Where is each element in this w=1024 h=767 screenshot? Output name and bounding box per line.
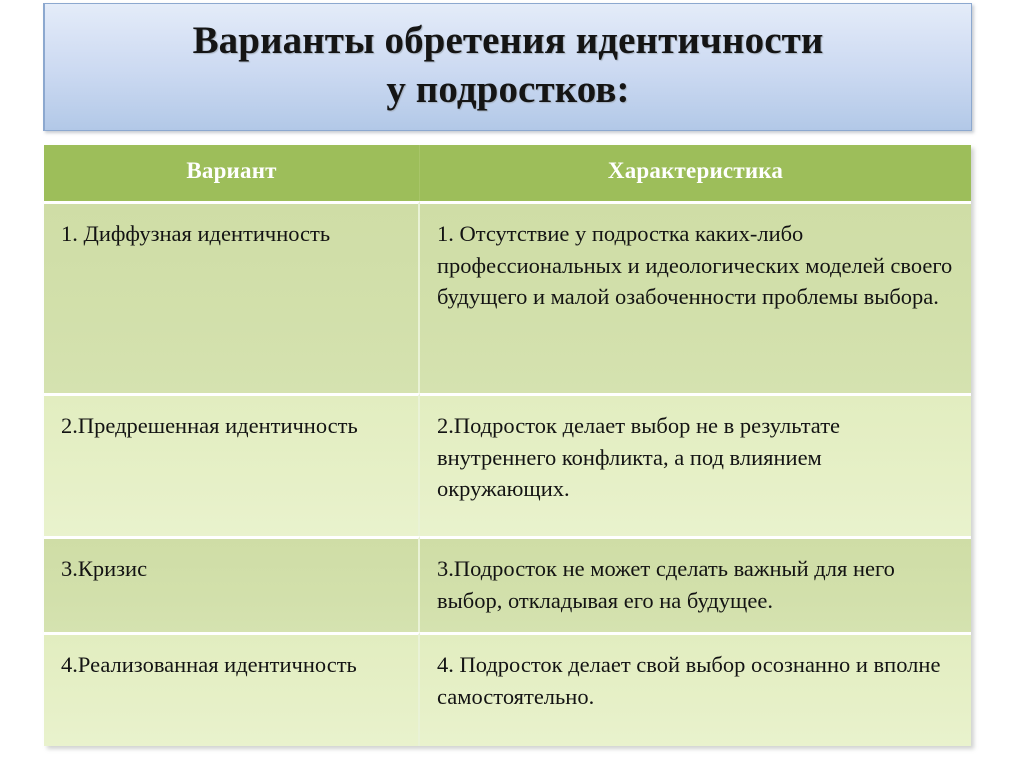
table-body: 1. Диффузная идентичность 1. Отсутствие … <box>44 201 971 746</box>
cell-variant: 3.Кризис <box>44 536 420 632</box>
table-row: 4.Реализованная идентичность 4. Подросто… <box>44 632 971 746</box>
column-header-variant: Вариант <box>44 145 420 201</box>
cell-characteristic: 2.Подросток делает выбор не в результате… <box>420 393 971 536</box>
cell-characteristic: 4. Подросток делает свой выбор осознанно… <box>420 632 971 746</box>
page-title-line-1: Варианты обретения идентичности <box>193 16 824 65</box>
cell-characteristic: 1. Отсутствие у подростка каких-либо про… <box>420 201 971 393</box>
page-title-line-2: у подростков: <box>386 65 629 114</box>
cell-variant: 4.Реализованная идентичность <box>44 632 420 746</box>
variants-table: Вариант Характеристика 1. Диффузная иден… <box>44 145 971 746</box>
table-header-row: Вариант Характеристика <box>44 145 971 201</box>
cell-variant: 2.Предрешенная идентичность <box>44 393 420 536</box>
cell-characteristic: 3.Подросток не может сделать важный для … <box>420 536 971 632</box>
table-row: 1. Диффузная идентичность 1. Отсутствие … <box>44 201 971 393</box>
table-row: 3.Кризис 3.Подросток не может сделать ва… <box>44 536 971 632</box>
cell-variant: 1. Диффузная идентичность <box>44 201 420 393</box>
table-row: 2.Предрешенная идентичность 2.Подросток … <box>44 393 971 536</box>
variants-table-container: Вариант Характеристика 1. Диффузная иден… <box>44 145 971 746</box>
slide-title-box: Варианты обретения идентичности у подрос… <box>43 3 972 131</box>
slide-canvas: Варианты обретения идентичности у подрос… <box>0 0 1024 767</box>
table-header: Вариант Характеристика <box>44 145 971 201</box>
column-header-characteristic: Характеристика <box>420 145 971 201</box>
